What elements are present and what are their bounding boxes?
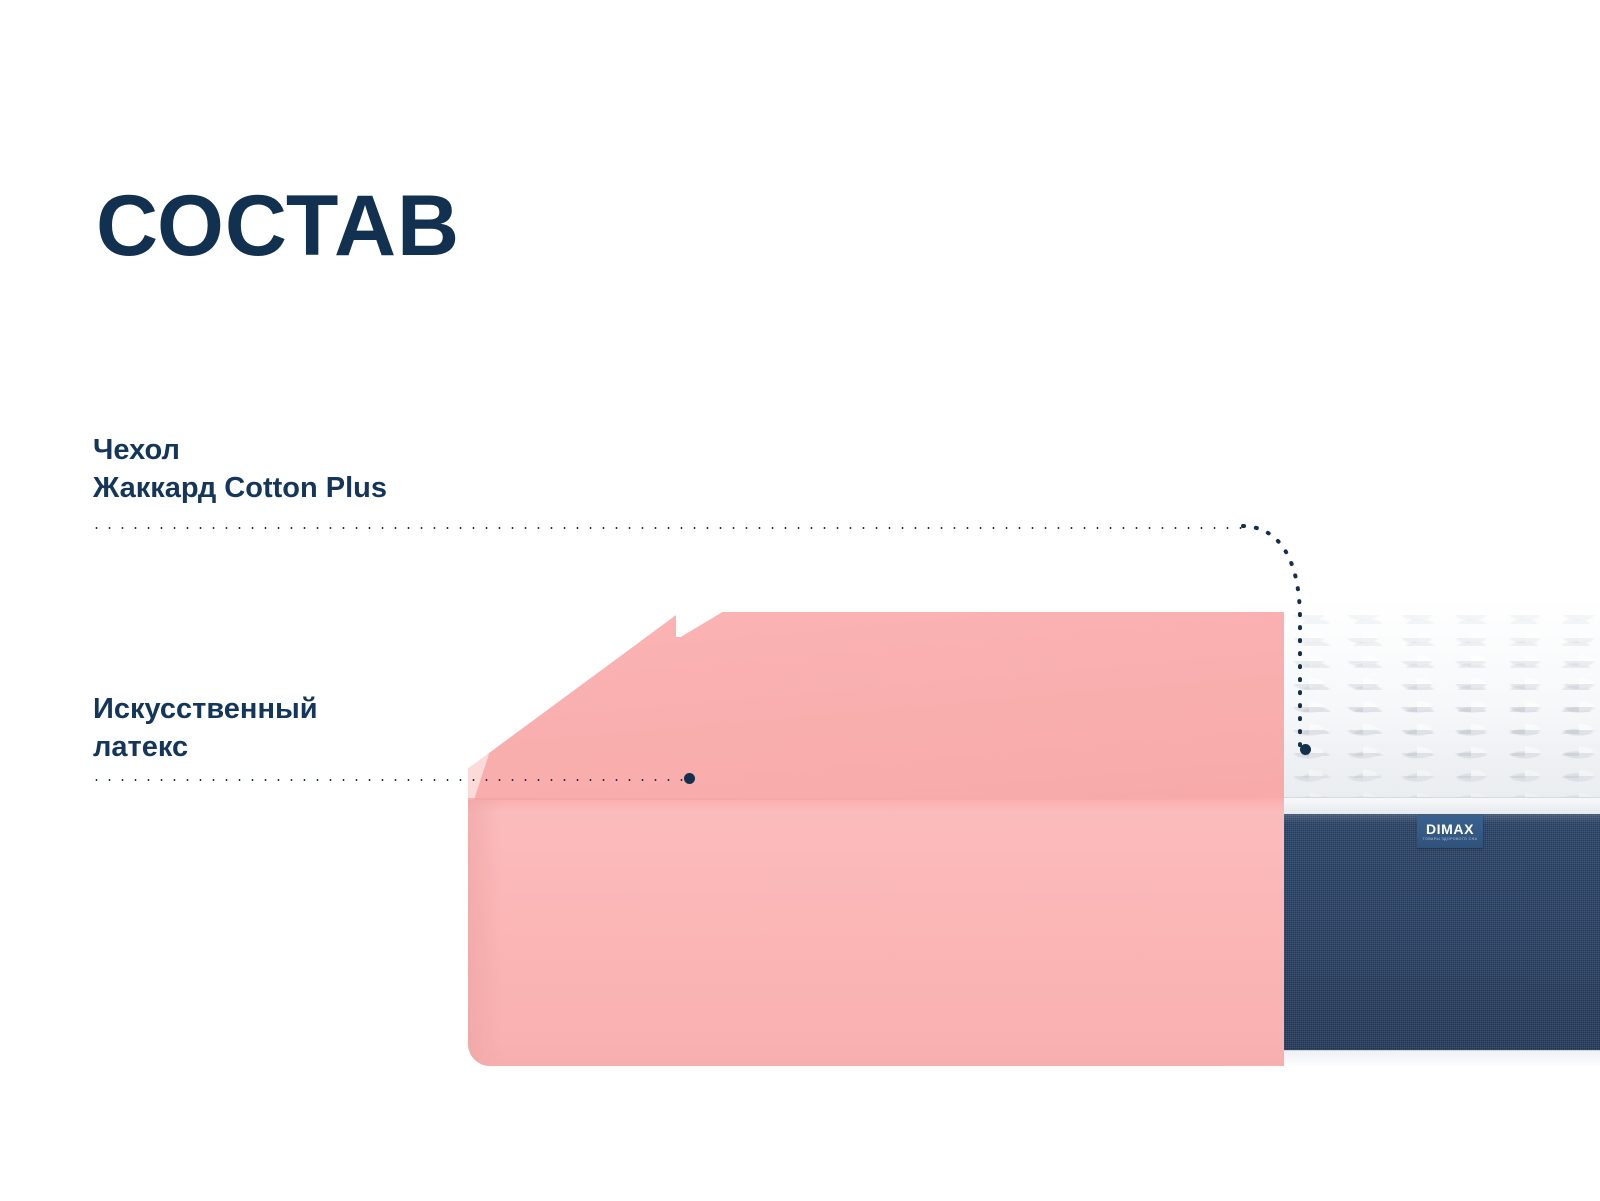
latex-front-bottom-shading <box>468 1044 1284 1066</box>
cover-callout-label: Чехол Жаккард Cotton Plus <box>93 432 387 507</box>
latex-top-bevel-highlight <box>468 612 728 818</box>
latex-edge-seam <box>468 798 1284 801</box>
quilt-pattern-texture <box>1238 602 1600 814</box>
latex-leader-endpoint-dot <box>684 773 695 784</box>
cover-leader-line <box>90 526 1246 530</box>
dimax-badge-subtitle: ТОВАРЫ ЗДОРОВОГО СНА <box>1423 838 1478 842</box>
latex-corner-cut <box>676 607 722 637</box>
cover-callout-line-1: Чехол <box>93 432 387 470</box>
latex-callout-line-2: латекс <box>93 729 318 767</box>
latex-callout-line-1: Искусственный <box>93 691 318 729</box>
latex-front-face <box>468 800 1284 1066</box>
cover-front-lip <box>1238 797 1600 814</box>
dimax-brand-badge: DIMAX ТОВАРЫ ЗДОРОВОГО СНА <box>1417 815 1483 848</box>
cover-sheen-overlay <box>1238 602 1600 814</box>
white-quilted-cover-layer <box>1238 602 1600 814</box>
latex-leader-line <box>90 778 690 782</box>
cover-leader-endpoint-dot <box>1300 744 1311 755</box>
cover-callout-line-2: Жаккард Cotton Plus <box>93 470 387 508</box>
cover-leader-curve-icon <box>1240 500 1320 760</box>
latex-front-left-shading <box>468 800 502 1066</box>
composition-infographic: СОСТАВ DIMAX ТОВАРЫ ЗДОРОВОГО СНА <box>0 0 1600 1201</box>
navy-side-band-layer <box>1228 814 1600 1052</box>
latex-top-face <box>468 612 1284 818</box>
navy-band-highlight <box>1228 814 1600 824</box>
dimax-badge-title: DIMAX <box>1426 822 1474 836</box>
latex-callout-label: Искусственный латекс <box>93 691 318 766</box>
latex-front-top-edge <box>468 800 1284 812</box>
mattress-bottom-strip <box>1228 1050 1600 1068</box>
page-title: СОСТАВ <box>96 183 460 269</box>
